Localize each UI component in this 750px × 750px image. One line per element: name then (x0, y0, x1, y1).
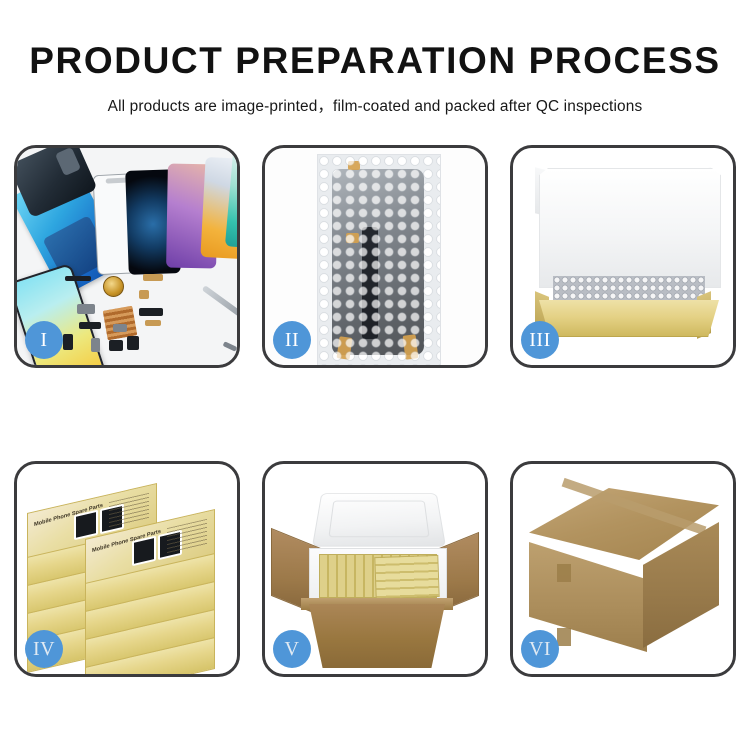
spare-part (139, 290, 149, 299)
bubble-wrap-bag (317, 154, 441, 365)
foam-box-lid (312, 493, 446, 546)
carton-seal-tab (557, 564, 571, 582)
process-step-panel-4[interactable]: Mobile Phone Spare Parts Mobile Phone Sp… (14, 461, 240, 677)
step-badge-2: II (273, 321, 311, 359)
spare-part (143, 274, 163, 281)
process-step-panel-3[interactable]: III (510, 145, 736, 368)
spare-part (127, 336, 139, 350)
spare-part (79, 322, 101, 329)
carton-seal-tab (557, 628, 571, 646)
process-step-panel-2[interactable]: II (262, 145, 488, 368)
box-body-front (539, 300, 719, 337)
process-step-grid: I II III (14, 145, 736, 677)
step-badge-1: I (25, 321, 63, 359)
process-step-panel-1[interactable]: I (14, 145, 240, 368)
process-step-panel-5[interactable]: V (262, 461, 488, 677)
page-title: PRODUCT PREPARATION PROCESS (0, 0, 750, 81)
bubble-wrap-fill (553, 276, 705, 304)
spare-part (139, 308, 163, 316)
box-lid-panel (539, 168, 721, 288)
spare-part (77, 304, 95, 314)
step-badge-3: III (521, 321, 559, 359)
step-badge-5: V (273, 630, 311, 668)
spare-part (113, 324, 127, 332)
spare-part (91, 338, 100, 352)
step-badge-6: VI (521, 630, 559, 668)
spare-part (65, 276, 91, 281)
carton-front-panel (309, 604, 445, 668)
spare-part (145, 320, 161, 326)
page-header: PRODUCT PREPARATION PROCESS All products… (0, 0, 750, 116)
step-badge-4: IV (25, 630, 63, 668)
page-subtitle: All products are image-printed，film-coat… (0, 81, 750, 116)
spare-part (109, 340, 123, 351)
packed-retail-boxes (374, 555, 439, 599)
spare-part (63, 334, 73, 350)
speaker-coil-part (103, 276, 124, 297)
process-step-panel-6[interactable]: VI (510, 461, 736, 677)
